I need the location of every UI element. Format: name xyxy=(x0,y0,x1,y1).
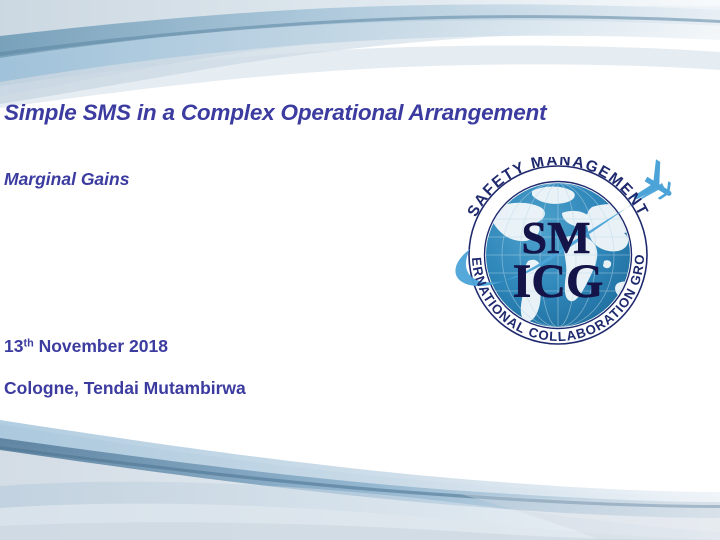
slide-canvas: Simple SMS in a Complex Operational Arra… xyxy=(0,0,720,540)
date-month-year: November 2018 xyxy=(34,336,168,356)
date-day: 13 xyxy=(4,336,23,356)
date-ordinal-suffix: th xyxy=(23,337,33,349)
slide-date: 13th November 2018 xyxy=(4,336,444,357)
sm-icg-logo: SAFETY MANAGEMENT INTERNATIONAL COLLABOR… xyxy=(436,157,684,353)
top-swoosh-band xyxy=(0,0,720,110)
logo-center-text: SM ICG xyxy=(513,212,604,308)
logo-center-line2: ICG xyxy=(513,255,604,308)
slide-subtitle: Marginal Gains xyxy=(4,169,444,190)
bottom-swoosh-band xyxy=(0,390,720,540)
page-title: Simple SMS in a Complex Operational Arra… xyxy=(4,100,444,126)
title-text-block: Simple SMS in a Complex Operational Arra… xyxy=(4,100,444,399)
slide-location-presenter: Cologne, Tendai Mutambirwa xyxy=(4,378,444,399)
